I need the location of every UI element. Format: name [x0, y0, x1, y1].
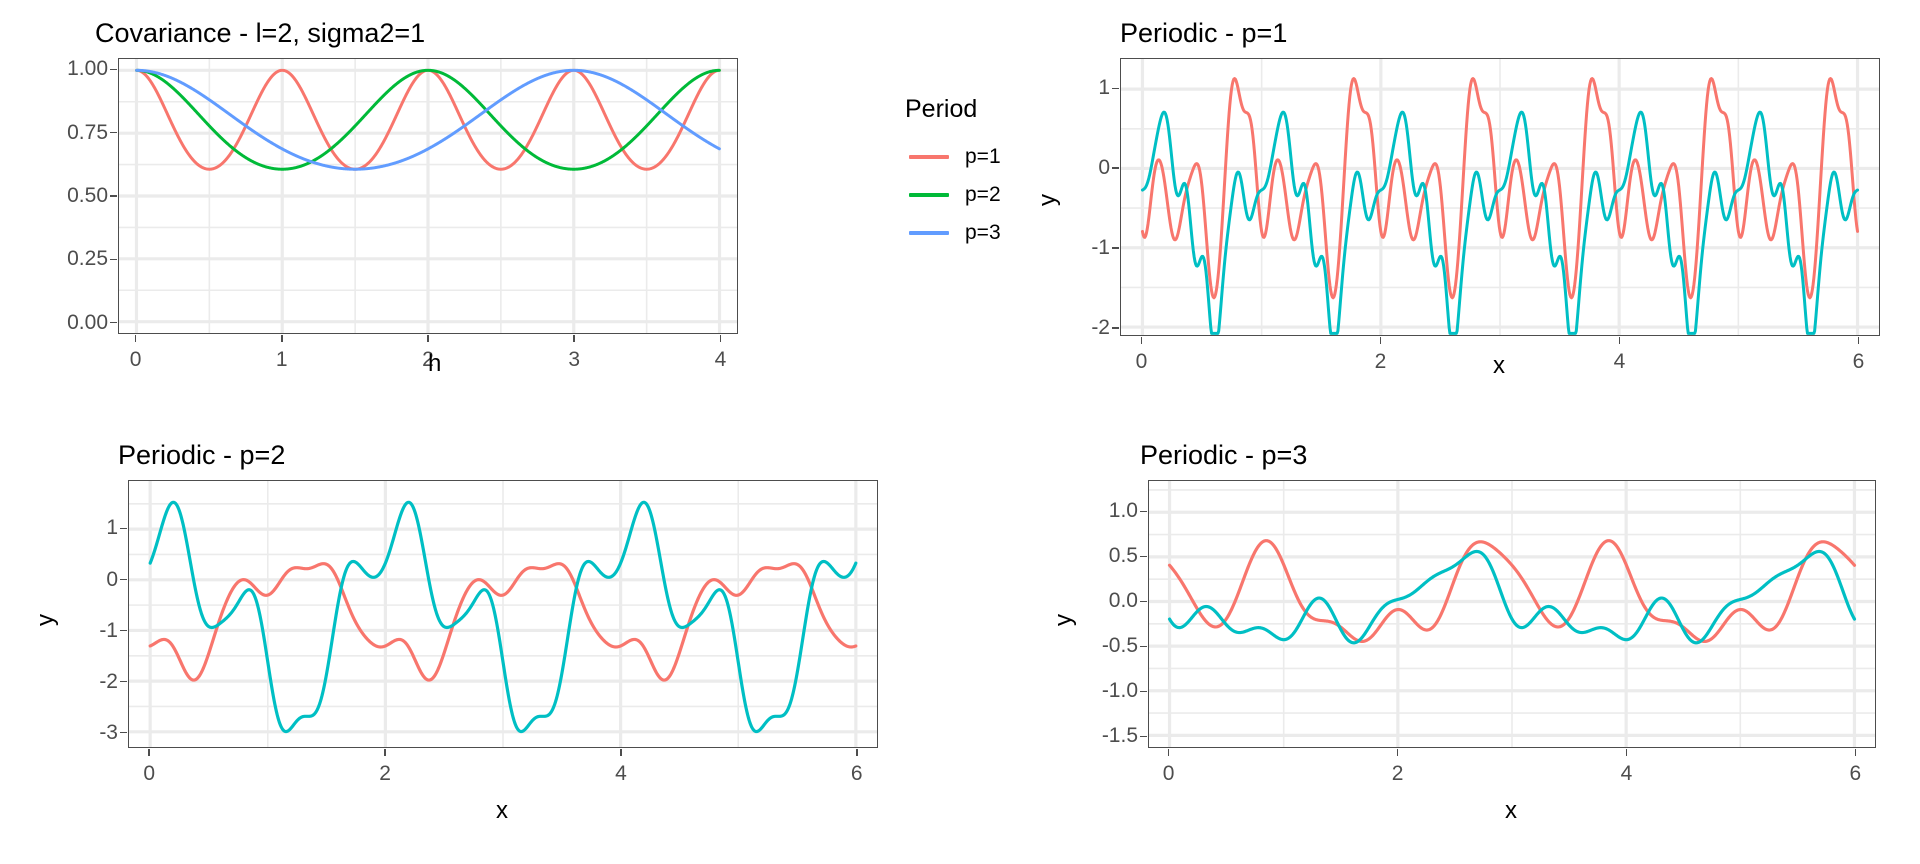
x-tick-label: 4 — [1621, 762, 1633, 786]
x-tick-label: 6 — [1853, 350, 1865, 374]
plot-area-periodic-p3 — [1148, 480, 1876, 748]
legend-key-icon — [909, 155, 949, 159]
y-tick-mark — [110, 195, 117, 197]
legend-key-icon — [909, 193, 949, 197]
y-tick-label: 1 — [1058, 76, 1110, 100]
x-tick-mark — [135, 335, 137, 342]
x-tick-mark — [1380, 337, 1382, 344]
y-tick-label: 0.25 — [56, 247, 108, 271]
plot-canvas-periodic-p2 — [129, 481, 877, 747]
y-tick-mark — [120, 732, 127, 734]
x-tick-mark — [281, 335, 283, 342]
x-tick-mark — [1619, 337, 1621, 344]
y-tick-label: -1 — [66, 619, 118, 643]
panel-title-periodic-p1: Periodic - p=1 — [1120, 18, 1287, 49]
x-tick-mark — [573, 335, 575, 342]
x-tick-label: 2 — [1375, 350, 1387, 374]
y-tick-mark — [1140, 736, 1147, 738]
plot-canvas-periodic-p1 — [1121, 59, 1879, 335]
legend-title: Period — [905, 95, 1001, 124]
y-tick-label: 0 — [66, 568, 118, 592]
x-tick-mark — [1397, 749, 1399, 756]
legend-item-p3[interactable]: p=3 — [909, 214, 1001, 252]
x-tick-label: 3 — [568, 348, 580, 372]
y-tick-mark — [110, 259, 117, 261]
x-tick-label: 2 — [379, 762, 391, 786]
y-tick-mark — [120, 681, 127, 683]
x-axis-title-periodic-p3: x — [1505, 797, 1517, 825]
plot-area-covariance — [118, 58, 738, 334]
x-axis-title-covariance: h — [428, 350, 441, 378]
x-axis-title-periodic-p2: x — [496, 797, 508, 825]
gridlines — [1121, 59, 1879, 335]
y-tick-mark — [1140, 511, 1147, 513]
x-tick-label: 0 — [143, 762, 155, 786]
x-tick-mark — [856, 749, 858, 756]
x-tick-label: 6 — [1850, 762, 1862, 786]
y-tick-label: 1.00 — [56, 57, 108, 81]
y-tick-mark — [1140, 601, 1147, 603]
x-tick-mark — [620, 749, 622, 756]
x-tick-label: 4 — [715, 348, 727, 372]
plot-area-periodic-p2 — [128, 480, 878, 748]
y-tick-mark — [1112, 247, 1119, 249]
y-tick-label: 1 — [66, 516, 118, 540]
panel-periodic-p1: Periodic - p=1 -2-1010246 x y — [1020, 0, 1920, 420]
x-tick-label: 2 — [1392, 762, 1404, 786]
y-tick-label: -0.5 — [1086, 634, 1138, 658]
y-tick-mark — [1140, 691, 1147, 693]
legend-item-p2[interactable]: p=2 — [909, 176, 1001, 214]
panel-periodic-p2: Periodic - p=2 -3-2-1010246 x y — [0, 420, 1020, 864]
x-tick-mark — [148, 749, 150, 756]
x-tick-mark — [720, 335, 722, 342]
x-tick-label: 6 — [851, 762, 863, 786]
legend-key-icon — [909, 231, 949, 235]
plot-canvas-covariance — [119, 59, 737, 333]
y-tick-label: 0.75 — [56, 121, 108, 145]
x-tick-label: 0 — [130, 348, 142, 372]
x-axis-title-periodic-p1: x — [1493, 352, 1505, 380]
gridlines — [1149, 481, 1875, 747]
panel-title-periodic-p2: Periodic - p=2 — [118, 440, 285, 471]
y-tick-mark — [120, 579, 127, 581]
y-axis-title-periodic-p2: y — [32, 614, 60, 626]
x-tick-label: 4 — [615, 762, 627, 786]
figure-canvas: Covariance - l=2, sigma2=1 0.000.250.500… — [0, 0, 1920, 864]
x-tick-label: 0 — [1136, 350, 1148, 374]
legend-item-label: p=3 — [965, 221, 1001, 245]
panel-periodic-p3: Periodic - p=3 -1.5-1.0-0.50.00.51.00246… — [1020, 420, 1920, 864]
x-tick-label: 1 — [276, 348, 288, 372]
y-tick-mark — [120, 528, 127, 530]
y-tick-label: -1.0 — [1086, 679, 1138, 703]
y-axis-title-periodic-p1: y — [1034, 194, 1062, 206]
x-tick-mark — [427, 335, 429, 342]
x-tick-label: 0 — [1163, 762, 1175, 786]
legend-period: Period p=1p=2p=3 — [905, 95, 1001, 252]
panel-covariance: Covariance - l=2, sigma2=1 0.000.250.500… — [0, 0, 1020, 420]
x-tick-mark — [1626, 749, 1628, 756]
legend-item-p1[interactable]: p=1 — [909, 138, 1001, 176]
panel-title-periodic-p3: Periodic - p=3 — [1140, 440, 1307, 471]
y-tick-label: -2 — [66, 670, 118, 694]
legend-item-label: p=2 — [965, 183, 1001, 207]
y-tick-label: 0.5 — [1086, 544, 1138, 568]
y-tick-mark — [110, 322, 117, 324]
panel-title-covariance: Covariance - l=2, sigma2=1 — [95, 18, 425, 49]
x-tick-mark — [1168, 749, 1170, 756]
y-tick-label: 0 — [1058, 156, 1110, 180]
y-tick-mark — [120, 630, 127, 632]
y-tick-label: 0.50 — [56, 184, 108, 208]
y-axis-title-periodic-p3: y — [1050, 614, 1078, 626]
x-tick-mark — [1141, 337, 1143, 344]
x-tick-mark — [1858, 337, 1860, 344]
gridlines — [129, 481, 877, 747]
x-tick-label: 4 — [1614, 350, 1626, 374]
x-tick-mark — [1855, 749, 1857, 756]
y-tick-mark — [110, 69, 117, 71]
y-tick-mark — [110, 132, 117, 134]
y-tick-label: -2 — [1058, 316, 1110, 340]
legend-item-label: p=1 — [965, 145, 1001, 169]
legend-items: p=1p=2p=3 — [905, 138, 1001, 252]
y-tick-label: -1.5 — [1086, 724, 1138, 748]
plot-area-periodic-p1 — [1120, 58, 1880, 336]
plot-canvas-periodic-p3 — [1149, 481, 1875, 747]
y-tick-mark — [1140, 556, 1147, 558]
y-tick-label: 1.0 — [1086, 499, 1138, 523]
y-tick-label: 0.0 — [1086, 589, 1138, 613]
y-tick-mark — [1140, 646, 1147, 648]
y-tick-mark — [1112, 167, 1119, 169]
y-tick-label: -1 — [1058, 236, 1110, 260]
y-tick-mark — [1112, 327, 1119, 329]
y-tick-mark — [1112, 88, 1119, 90]
y-tick-label: 0.00 — [56, 311, 108, 335]
panel-grid: Covariance - l=2, sigma2=1 0.000.250.500… — [0, 0, 1920, 864]
y-tick-label: -3 — [66, 721, 118, 745]
x-tick-mark — [384, 749, 386, 756]
